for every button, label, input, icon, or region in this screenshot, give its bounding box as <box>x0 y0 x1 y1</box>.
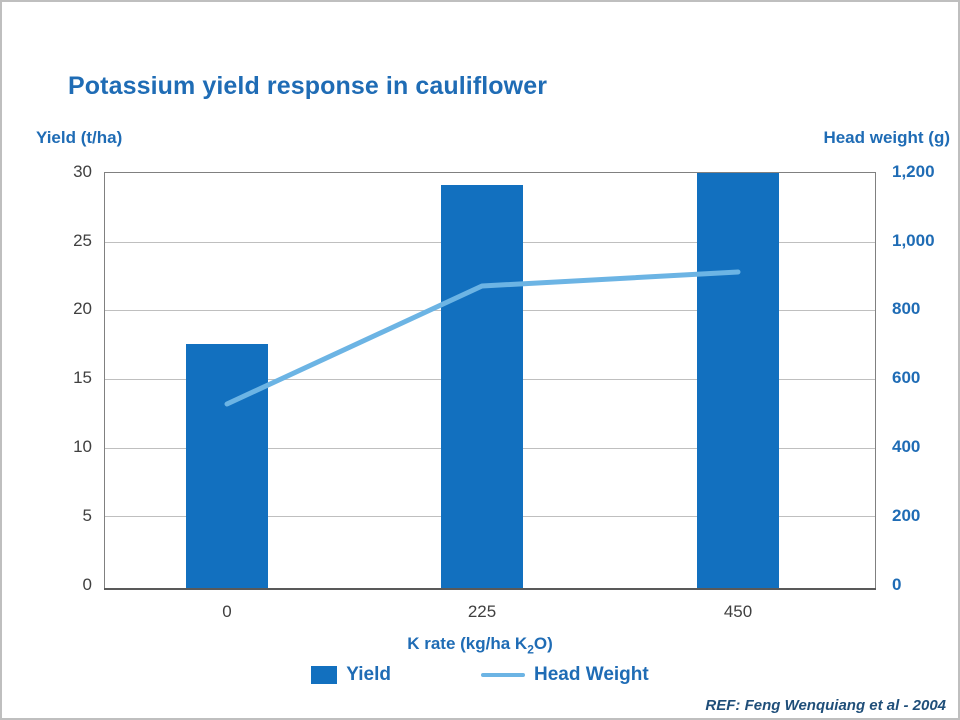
x-axis-title-sub: 2 <box>527 642 534 656</box>
legend-label-head-weight: Head Weight <box>534 664 649 686</box>
right-tick-600: 600 <box>892 368 952 388</box>
x-axis-line <box>104 588 876 590</box>
left-tick-5: 5 <box>48 506 92 526</box>
right-tick-1000: 1,000 <box>892 231 952 251</box>
left-tick-25: 25 <box>48 231 92 251</box>
left-tick-0: 0 <box>48 575 92 595</box>
legend-line-swatch-icon <box>481 673 525 677</box>
right-tick-400: 400 <box>892 437 952 457</box>
x-tick-0: 0 <box>167 602 287 622</box>
x-tick-225: 225 <box>422 602 542 622</box>
reference-note: REF: Feng Wenquiang et al - 2004 <box>705 697 946 714</box>
legend-item-head-weight[interactable]: Head Weight <box>481 664 649 686</box>
x-axis-title: K rate (kg/ha K2O) <box>0 634 960 656</box>
right-tick-0: 0 <box>892 575 952 595</box>
line-series-head-weight <box>104 172 876 588</box>
right-axis-label: Head weight (g) <box>823 128 950 148</box>
x-tick-450: 450 <box>678 602 798 622</box>
left-axis-label: Yield (t/ha) <box>36 128 122 148</box>
page-title: Potassium yield response in cauliflower <box>68 72 547 101</box>
right-tick-800: 800 <box>892 299 952 319</box>
legend-item-yield[interactable]: Yield <box>311 664 391 686</box>
legend-bar-swatch-icon <box>311 666 337 684</box>
left-tick-10: 10 <box>48 437 92 457</box>
left-tick-30: 30 <box>48 162 92 182</box>
legend-label-yield: Yield <box>346 664 391 686</box>
right-tick-200: 200 <box>892 506 952 526</box>
left-tick-20: 20 <box>48 299 92 319</box>
chart-legend: Yield Head Weight <box>0 664 960 686</box>
x-axis-title-pre: K rate (kg/ha K <box>407 634 527 653</box>
right-tick-1200: 1,200 <box>892 162 952 182</box>
left-tick-15: 15 <box>48 368 92 388</box>
x-axis-title-post: O) <box>534 634 553 653</box>
